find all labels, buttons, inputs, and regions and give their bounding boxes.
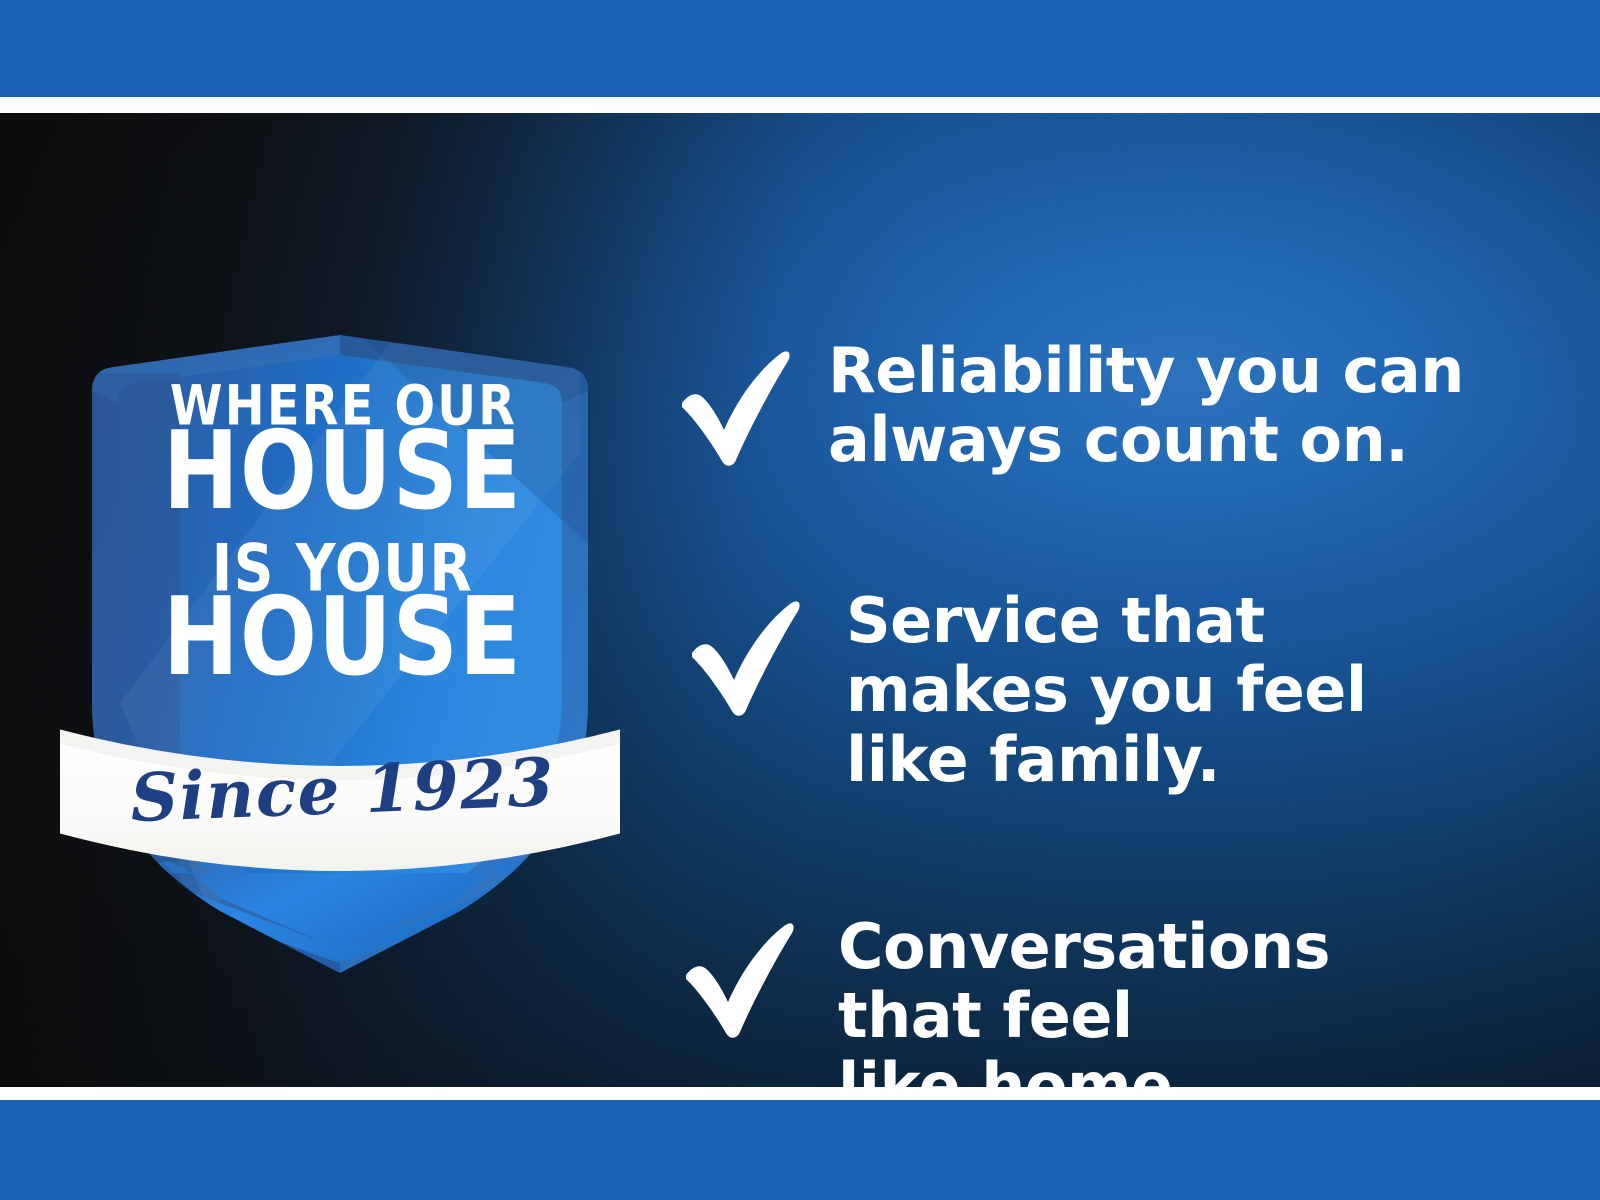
benefit-item-3: Conversations that feel like home. <box>672 906 1330 1087</box>
top-brand-bar <box>0 0 1600 97</box>
checkmark-icon <box>678 590 810 722</box>
benefit-text-2: Service that makes you feel like family. <box>846 586 1367 794</box>
benefit-text-1: Reliability you can always count on. <box>828 336 1464 475</box>
checkmark-icon <box>672 912 804 1044</box>
benefits-list: Reliability you can always count on. Ser… <box>660 226 1520 1087</box>
badge-wordmark: WHERE OUR HOUSE IS YOUR HOUSE <box>163 374 522 700</box>
badge-ribbon: Since 1923 <box>60 729 620 871</box>
bottom-white-divider <box>0 1087 1600 1100</box>
main-panel: WHERE OUR HOUSE IS YOUR HOUSE Since 1923 <box>0 113 1600 1087</box>
benefit-item-2: Service that makes you feel like family. <box>678 584 1367 794</box>
top-white-divider <box>0 97 1600 113</box>
checkmark-icon <box>668 340 800 472</box>
shield-badge: WHERE OUR HOUSE IS YOUR HOUSE Since 1923 <box>60 273 620 973</box>
badge-line-4: HOUSE <box>163 574 522 700</box>
bottom-brand-bar <box>0 1100 1600 1200</box>
benefit-text-3: Conversations that feel like home. <box>838 912 1330 1087</box>
promo-graphic: WHERE OUR HOUSE IS YOUR HOUSE Since 1923 <box>0 0 1600 1200</box>
badge-ribbon-text: Since 1923 <box>129 743 556 837</box>
badge-line-2: HOUSE <box>163 408 522 534</box>
benefit-item-1: Reliability you can always count on. <box>668 334 1464 475</box>
